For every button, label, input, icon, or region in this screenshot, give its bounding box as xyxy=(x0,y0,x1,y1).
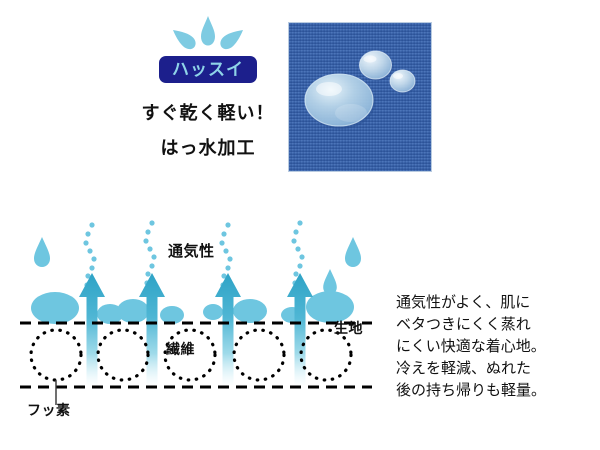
water-splash-icon xyxy=(153,14,263,56)
breathability-arrows xyxy=(79,273,313,385)
label-fabric: 生地 xyxy=(334,318,363,338)
description-line-2: ベタつきにくく蒸れ xyxy=(396,314,596,336)
hassui-badge-label: ハッスイ xyxy=(172,61,244,78)
description-line-1: 通気性がよく、肌に xyxy=(396,292,596,314)
top-section: ハッスイ すぐ乾く軽い！ はっ水加工 xyxy=(0,0,600,200)
label-fluorine: フッ素 xyxy=(27,400,71,420)
description-line-4: 冷えを軽減、ぬれた xyxy=(396,358,596,380)
water-beading-photo xyxy=(288,22,432,172)
description-line-5: 後の持ち帰りも軽量。 xyxy=(396,380,596,402)
headline-line1: すぐ乾く軽い！ xyxy=(128,99,288,125)
brand-block: ハッスイ すぐ乾く軽い！ はっ水加工 xyxy=(128,14,288,160)
fabric-boundary-lines xyxy=(20,323,372,387)
description-text: 通気性がよく、肌に ベタつきにくく蒸れ にくい快適な着心地。 冷えを軽減、ぬれた… xyxy=(396,292,596,402)
label-breathability: 通気性 xyxy=(168,240,215,261)
description-line-3: にくい快適な着心地。 xyxy=(396,336,596,358)
headline-line2: はっ水加工 xyxy=(128,134,288,160)
label-fiber: 繊維 xyxy=(166,339,195,359)
hassui-badge: ハッスイ xyxy=(159,56,257,83)
